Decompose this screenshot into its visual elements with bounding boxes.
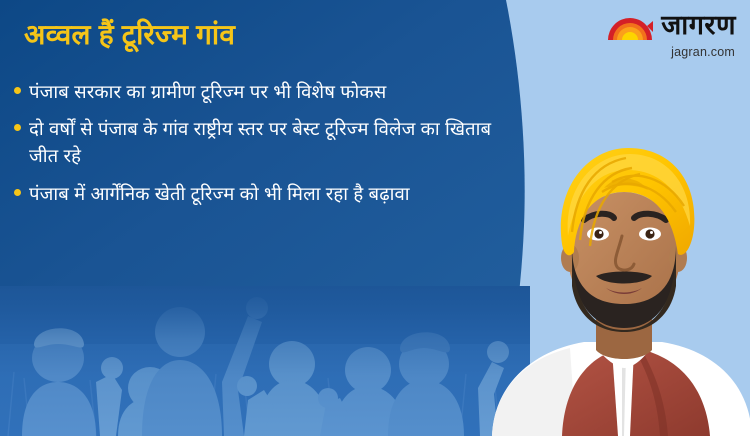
logo-wordmark: जागरण bbox=[661, 12, 736, 39]
logo-main-row: जागरण bbox=[606, 8, 736, 42]
celebrating-crowd-photo-overlay bbox=[0, 286, 530, 436]
bullet-dot-icon bbox=[14, 189, 21, 196]
bullet-text: पंजाब में आर्गेंनिक खेती टूरिज्म को भी म… bbox=[29, 180, 410, 207]
man-in-yellow-turban-portrait bbox=[484, 136, 750, 436]
bullet-text: दो वर्षों से पंजाब के गांव राष्ट्रीय स्त… bbox=[29, 115, 524, 169]
list-item: पंजाब सरकार का ग्रामीण टूरिज्म पर भी विश… bbox=[14, 78, 524, 105]
page-title: अव्वल हैं टूरिज्म गांव bbox=[24, 17, 235, 52]
bullet-dot-icon bbox=[14, 87, 21, 94]
jagran-logo[interactable]: जागरण jagran.com bbox=[606, 8, 736, 59]
infographic-card: अव्वल हैं टूरिज्म गांव पंजाब सरकार का ग्… bbox=[0, 0, 750, 436]
logo-domain: jagran.com bbox=[671, 45, 735, 59]
bullet-list: पंजाब सरकार का ग्रामीण टूरिज्म पर भी विश… bbox=[14, 78, 524, 217]
jagran-sunrise-icon bbox=[606, 8, 654, 42]
bullet-dot-icon bbox=[14, 124, 21, 131]
bullet-text: पंजाब सरकार का ग्रामीण टूरिज्म पर भी विश… bbox=[29, 78, 386, 105]
list-item: पंजाब में आर्गेंनिक खेती टूरिज्म को भी म… bbox=[14, 180, 524, 207]
list-item: दो वर्षों से पंजाब के गांव राष्ट्रीय स्त… bbox=[14, 115, 524, 169]
